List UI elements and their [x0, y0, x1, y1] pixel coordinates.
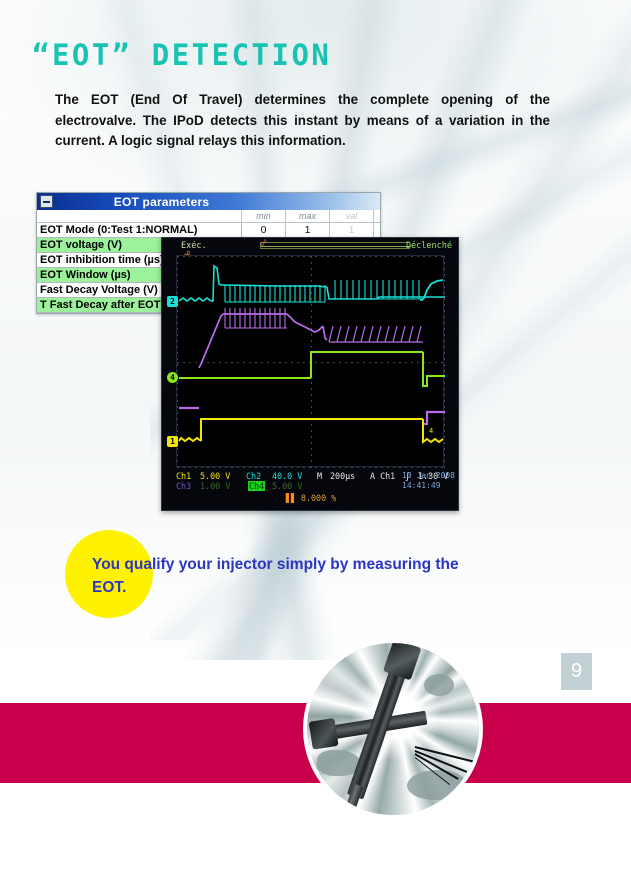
column-header-min: min — [242, 210, 286, 222]
trigger-marker-top-icon: ☍ — [261, 240, 266, 249]
trace-ch2-cyan — [179, 266, 445, 301]
table-column-headers: min max val — [37, 210, 380, 223]
intro-paragraph: The EOT (End Of Travel) determines the c… — [55, 90, 550, 152]
scope-trigger-bar — [260, 242, 410, 249]
meas-timebase-label: M — [317, 471, 322, 481]
parameter-max-value: 1 — [286, 223, 330, 238]
trace-ch3-baseline — [179, 408, 445, 424]
column-header-max: max — [286, 210, 330, 222]
table-row[interactable]: EOT Mode (0:Test 1:NORMAL)011 — [37, 223, 380, 238]
meas-ch1-label: Ch1 — [176, 471, 191, 481]
meas-timebase-value: 200µs — [330, 471, 355, 481]
column-header-name — [37, 210, 242, 222]
callout-text: You qualify your injector simply by meas… — [92, 553, 462, 599]
trace-ch3-ripple-b — [329, 326, 423, 342]
channel-marker-4[interactable]: 4 — [167, 372, 178, 383]
scope-time: 14:41:49 — [402, 481, 455, 491]
meas-trigger-source: A Ch1 — [370, 471, 395, 481]
scope-measurement-bar: Ch1 5.00 V Ch2 40.0 V M 200µs A Ch1 ʃ 1.… — [162, 469, 459, 511]
scope-run-state: Exéc. — [181, 241, 207, 251]
parameter-name: EOT Mode (0:Test 1:NORMAL) — [37, 223, 242, 238]
injector-photo-circle — [303, 639, 483, 819]
channel-marker-1[interactable]: 1 — [167, 436, 178, 447]
meas-ch2-value: 40.0 V — [272, 471, 302, 481]
meas-ch4-value: 5.00 V — [272, 481, 302, 491]
trace-ch3-ripple-a — [225, 308, 287, 328]
parameter-val-value[interactable]: 1 — [330, 223, 374, 238]
trace-ch1-yellow — [179, 419, 443, 442]
column-header-val: val — [330, 210, 374, 222]
window-titlebar: EOT parameters — [37, 193, 380, 210]
scope-date: 10 Jan 2008 — [402, 471, 455, 481]
trigger-position-value: 8.000 % — [301, 493, 336, 503]
meas-ch2-label: Ch2 — [246, 471, 261, 481]
meas-ch3-value: 1.00 V — [200, 481, 230, 491]
window-title: EOT parameters — [53, 195, 380, 209]
scope-trigger-state: Déclenché — [406, 241, 452, 251]
trigger-position-icon: ▋▋ — [286, 493, 296, 503]
meas-ch3-label: Ch3 — [176, 481, 191, 491]
trace-ch2-ripple-a — [225, 285, 325, 302]
channel-marker-2[interactable]: 2 — [167, 296, 178, 307]
trace-label-4: 4 — [429, 427, 433, 435]
page-number-badge: 9 — [561, 653, 592, 690]
scope-datetime: 10 Jan 2008 14:41:49 — [402, 471, 455, 491]
minimize-icon[interactable] — [40, 195, 53, 208]
trace-ch3-purple — [199, 314, 327, 368]
parameter-min-value: 0 — [242, 223, 286, 238]
meas-ch1-value: 5.00 V — [200, 471, 230, 481]
page-title: “EOT” DETECTION — [32, 38, 331, 72]
waveform-svg: 4 — [177, 256, 445, 468]
scope-waveform-grid[interactable]: 4 2 4 1 — [176, 255, 444, 467]
trace-ch2-ripple-b — [335, 280, 423, 299]
trace-ch4-green — [179, 352, 445, 386]
meas-ch4-label: Ch4 — [248, 481, 265, 491]
oscilloscope-screenshot[interactable]: Exéc. ☍ Déclenché ☍ — [161, 237, 459, 511]
trigger-position-readout: ▋▋ 8.000 % — [162, 493, 459, 503]
